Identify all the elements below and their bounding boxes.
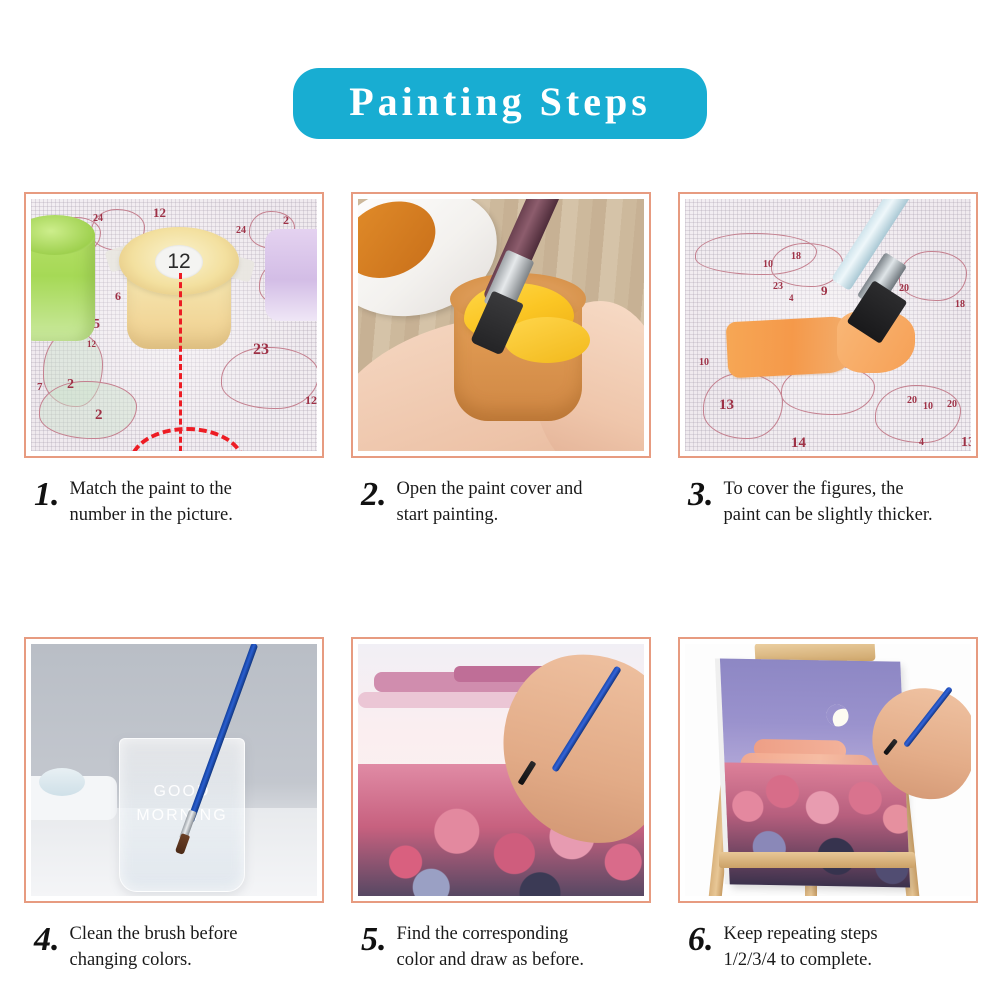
canvas-outline-shape <box>703 373 783 439</box>
canvas-number: 14 <box>791 435 806 451</box>
canvas-number: 24 <box>93 213 103 224</box>
canvas-number: 10 <box>763 259 773 270</box>
step-text-line-1: Open the paint cover and <box>397 476 583 502</box>
title-section: Painting Steps <box>0 68 1000 139</box>
step-number: 5. <box>361 923 387 957</box>
canvas-number: 20 <box>947 399 957 410</box>
photo-hand-holding-open-paint-pot <box>358 199 644 451</box>
canvas-number: 18 <box>955 299 965 310</box>
glass-label-line-1: GOOD <box>127 780 237 804</box>
canvas-outline-shape <box>39 381 137 439</box>
step-text: Match the paint to the number in the pic… <box>70 476 233 529</box>
canvas-number: 6 <box>115 289 121 304</box>
canvas-number: 4 <box>789 293 794 303</box>
step-text-line-2: number in the picture. <box>70 502 233 528</box>
canvas-outline-shape <box>875 385 961 443</box>
steps-grid: 12 24 2 24 7 6 5 12 2 7 2 23 24 <box>24 192 978 973</box>
canvas-number: 2 <box>67 377 74 393</box>
step-card-1: 12 24 2 24 7 6 5 12 2 7 2 23 24 <box>24 192 324 529</box>
step-4-photo-frame: GOOD MORNING <box>24 637 324 903</box>
lid-paint-residue <box>358 199 448 292</box>
step-1-caption: 1. Match the paint to the number in the … <box>24 476 324 529</box>
photo-brush-in-water-glass: GOOD MORNING <box>31 644 317 896</box>
step-text-line-2: 1/2/3/4 to complete. <box>724 947 878 973</box>
step-3-caption: 3. To cover the figures, the paint can b… <box>678 476 978 529</box>
step-text: Open the paint cover and start painting. <box>397 476 583 529</box>
canvas-number: 2 <box>283 213 289 228</box>
step-number: 3. <box>688 478 714 512</box>
glass-label: GOOD MORNING <box>127 780 237 828</box>
yellow-paint-secondary <box>504 317 590 363</box>
canvas-number: 12 <box>153 205 166 221</box>
easel-tray <box>719 852 915 868</box>
step-5-caption: 5. Find the corresponding color and draw… <box>351 921 651 974</box>
canvas-number: 23 <box>773 281 783 292</box>
canvas-number: 9 <box>821 283 828 299</box>
canvas-number: 4 <box>919 437 924 448</box>
photo-hand-painting-blossom-scene <box>358 644 644 896</box>
crescent-moon <box>824 701 851 729</box>
step-number: 1. <box>34 478 60 512</box>
canvas-number: 13 <box>719 397 734 414</box>
step-text-line-1: Clean the brush before <box>70 921 238 947</box>
callout-number: 12 <box>168 449 183 451</box>
step-5-photo-frame <box>351 637 651 903</box>
canvas-number: 13 <box>961 435 971 451</box>
glass-label-line-2: MORNING <box>127 804 237 828</box>
step-text-line-2: changing colors. <box>70 947 238 973</box>
canvas-number: 2 <box>95 407 103 424</box>
canvas-number: 18 <box>791 251 801 262</box>
canvas-number: 7 <box>37 381 43 393</box>
photo-finished-painting-on-easel <box>685 644 971 896</box>
purple-paint-pot <box>265 229 317 321</box>
page-title: Painting Steps <box>349 82 651 122</box>
step-4-caption: 4. Clean the brush before changing color… <box>24 921 324 974</box>
step-text: Find the corresponding color and draw as… <box>397 921 584 974</box>
canvas-number: 20 <box>899 283 909 294</box>
step-text: Clean the brush before changing colors. <box>70 921 238 974</box>
step-2-caption: 2. Open the paint cover and start painti… <box>351 476 651 529</box>
soap-item <box>39 768 85 796</box>
step-6-photo-frame <box>678 637 978 903</box>
canvas-number: 24 <box>236 225 246 236</box>
step-text-line-1: To cover the figures, the <box>724 476 933 502</box>
photo-brush-applying-orange-paint: 10 18 23 4 9 20 18 10 20 13 14 20 <box>685 199 971 451</box>
canvas-number: 10 <box>923 401 933 412</box>
step-text-line-1: Match the paint to the <box>70 476 233 502</box>
canvas-number: 23 <box>253 341 269 359</box>
canvas-outline-shape <box>899 251 967 301</box>
step-number: 6. <box>688 923 714 957</box>
photo-paint-pot-on-numbered-canvas: 12 24 2 24 7 6 5 12 2 7 2 23 24 <box>31 199 317 451</box>
step-text: Keep repeating steps 1/2/3/4 to complete… <box>724 921 878 974</box>
step-text-line-2: paint can be slightly thicker. <box>724 502 933 528</box>
step-card-6: 6. Keep repeating steps 1/2/3/4 to compl… <box>678 637 978 974</box>
step-2-photo-frame <box>351 192 651 458</box>
step-text-line-1: Keep repeating steps <box>724 921 878 947</box>
step-card-5: 5. Find the corresponding color and draw… <box>351 637 651 974</box>
canvas-number: 10 <box>699 357 709 368</box>
step-number: 2. <box>361 478 387 512</box>
callout-dashed-line <box>179 273 182 451</box>
steps-row-1: 12 24 2 24 7 6 5 12 2 7 2 23 24 <box>24 192 978 529</box>
canvas-outline-shape <box>221 347 317 409</box>
canvas-number: 12 <box>305 393 317 408</box>
step-card-4: GOOD MORNING 4. Clean the brush before <box>24 637 324 974</box>
step-card-2: 2. Open the paint cover and start painti… <box>351 192 651 529</box>
step-text-line-2: color and draw as before. <box>397 947 584 973</box>
step-text: To cover the figures, the paint can be s… <box>724 476 933 529</box>
step-1-photo-frame: 12 24 2 24 7 6 5 12 2 7 2 23 24 <box>24 192 324 458</box>
canvas-number: 12 <box>87 339 96 349</box>
title-banner: Painting Steps <box>293 68 707 139</box>
step-6-caption: 6. Keep repeating steps 1/2/3/4 to compl… <box>678 921 978 974</box>
step-text-line-2: start painting. <box>397 502 583 528</box>
step-text-line-1: Find the corresponding <box>397 921 584 947</box>
canvas-number: 20 <box>907 395 917 406</box>
step-3-photo-frame: 10 18 23 4 9 20 18 10 20 13 14 20 <box>678 192 978 458</box>
cherry-blossom-area <box>720 762 910 887</box>
step-number: 4. <box>34 923 60 957</box>
steps-row-2: GOOD MORNING 4. Clean the brush before <box>24 637 978 974</box>
step-card-3: 10 18 23 4 9 20 18 10 20 13 14 20 <box>678 192 978 529</box>
painting-steps-infographic: Painting Steps <box>0 0 1000 1000</box>
